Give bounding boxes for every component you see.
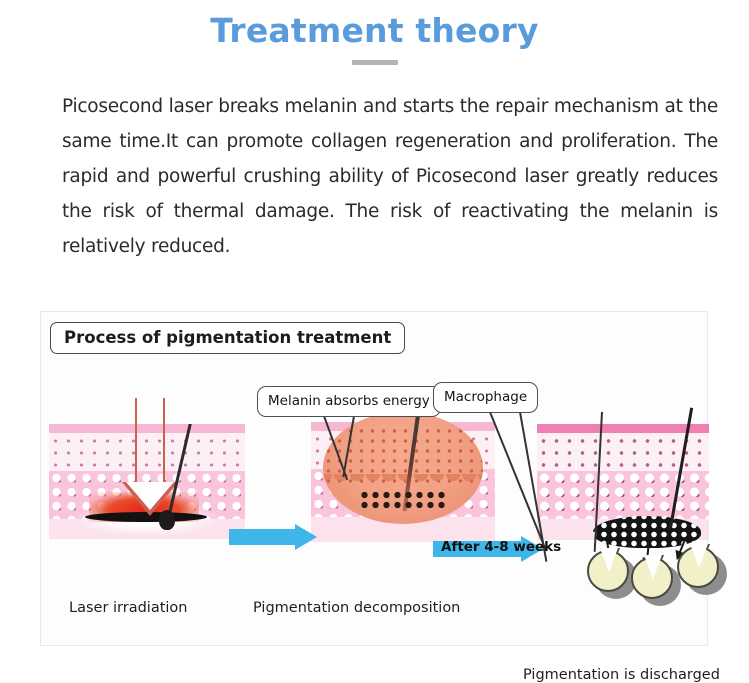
arrow-head bbox=[295, 524, 317, 550]
callout-melanin-absorbs-energy: Melanin absorbs energy bbox=[257, 386, 441, 417]
cell-mouth bbox=[600, 548, 618, 572]
callout-macrophage: Macrophage bbox=[433, 382, 538, 413]
magnified-view-oval-stage-2 bbox=[323, 412, 483, 524]
macrophage-cell-1 bbox=[587, 550, 631, 594]
macrophage-cell-3 bbox=[677, 546, 721, 590]
macrophage-cell-2 bbox=[631, 557, 675, 601]
caption-laser-irradiation: Laser irradiation bbox=[69, 600, 188, 616]
diagram-stage: After 4-8 weeks bbox=[41, 364, 709, 647]
shattered-melanin-granules bbox=[359, 490, 445, 512]
page-title: Treatment theory bbox=[0, 8, 749, 54]
cell-mouth bbox=[690, 544, 708, 568]
diagram-heading: Process of pigmentation treatment bbox=[50, 322, 405, 354]
caption-pigmentation-is-discharged: Pigmentation is discharged bbox=[523, 667, 720, 683]
cell-mouth bbox=[644, 555, 662, 579]
progress-arrow-stage-1-to-2 bbox=[229, 524, 319, 550]
dermis-layer bbox=[537, 471, 709, 519]
pigmentation-process-diagram: Process of pigmentation treatment bbox=[40, 311, 708, 646]
laser-beam-shaft bbox=[135, 398, 165, 484]
hair-follicle-bulb bbox=[159, 510, 175, 530]
arrow-shaft bbox=[229, 529, 297, 545]
arrow-label-after-weeks: After 4-8 weeks bbox=[441, 539, 561, 555]
caption-pigmentation-decomposition: Pigmentation decomposition bbox=[253, 600, 460, 616]
intro-paragraph: Picosecond laser breaks melanin and star… bbox=[62, 89, 718, 264]
skin-surface-band bbox=[537, 424, 709, 433]
laser-beam-arrowhead-inner bbox=[126, 482, 174, 510]
title-underline-rule bbox=[352, 60, 398, 65]
